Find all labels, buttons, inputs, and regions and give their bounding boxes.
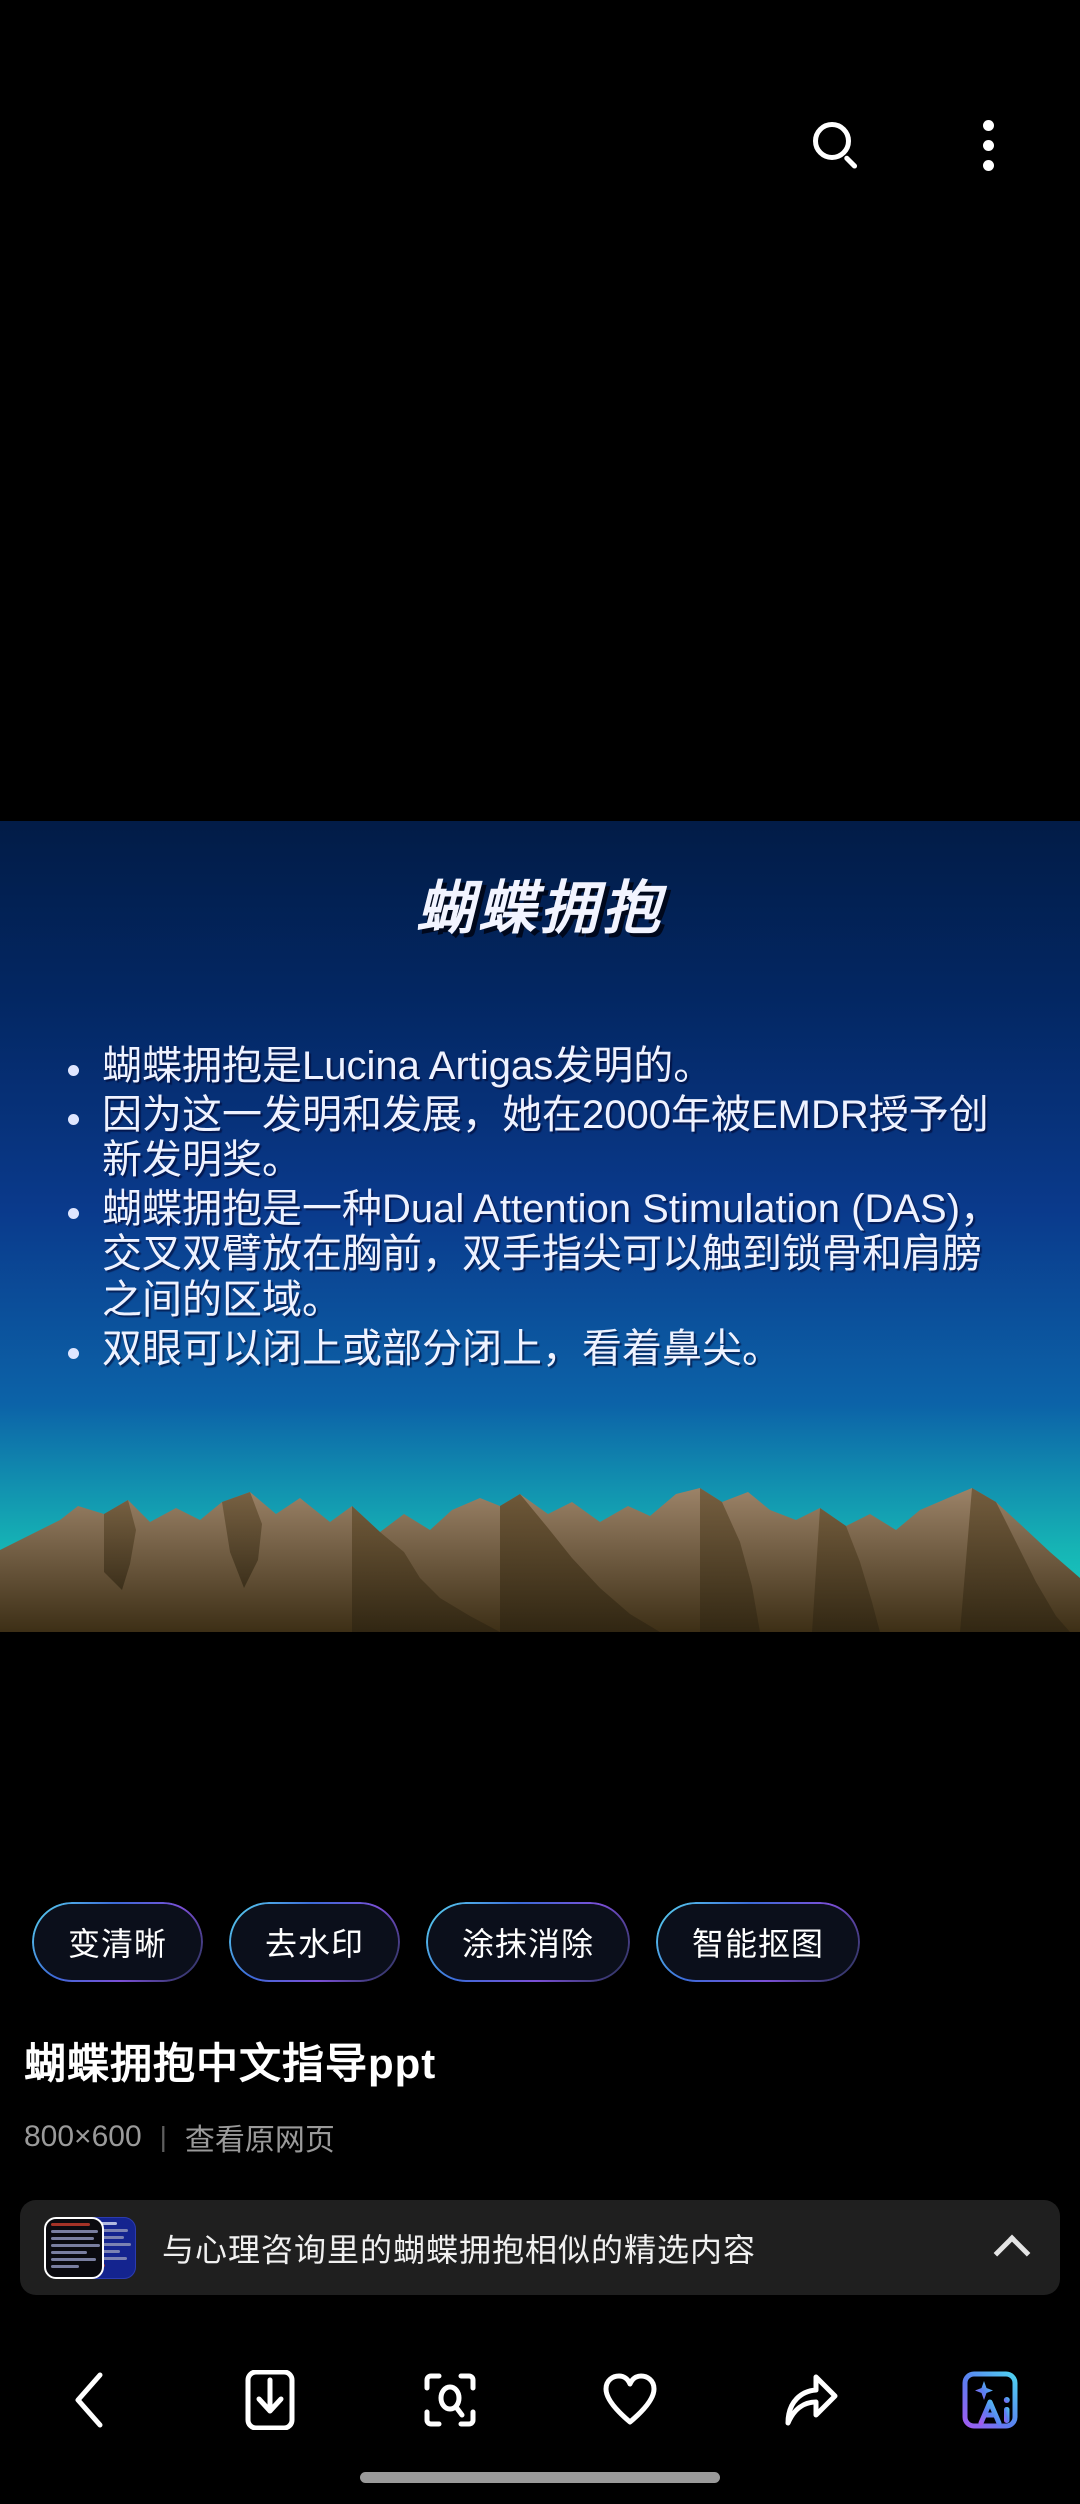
share-button[interactable]	[762, 2352, 858, 2448]
back-button[interactable]	[42, 2352, 138, 2448]
visual-search-button[interactable]	[402, 2352, 498, 2448]
thumbnail-front	[44, 2217, 104, 2279]
visual-search-icon	[421, 2370, 479, 2430]
meta-separator: |	[160, 2121, 167, 2153]
download-icon	[242, 2370, 298, 2430]
related-content-label: 与心理咨询里的蝴蝶拥抱相似的精选内容	[162, 2225, 756, 2271]
favorite-heart-icon	[601, 2372, 659, 2428]
chip-smart-cutout[interactable]: 智能抠图	[658, 1904, 858, 1980]
share-icon	[780, 2371, 840, 2429]
chip-remove-watermark[interactable]: 去水印	[231, 1904, 398, 1980]
chip-enhance-clarity[interactable]: 变清晰	[34, 1904, 201, 1980]
top-bar	[0, 0, 1080, 290]
bottom-toolbar	[0, 2340, 1080, 2460]
image-meta-row: 800×600 | 查看原网页	[24, 2115, 335, 2159]
mountain-illustration	[0, 1402, 1080, 1632]
image-viewer-screen: 蝴蝶拥抱 蝴蝶拥抱是Lucina Artigas发明的。 因为这一发明和发展，她…	[0, 0, 1080, 2504]
more-vertical-icon	[983, 120, 994, 171]
view-source-page-link[interactable]: 查看原网页	[185, 2115, 335, 2159]
search-button[interactable]	[796, 105, 876, 185]
related-thumbnail-stack	[44, 2217, 140, 2279]
home-indicator	[360, 2472, 720, 2483]
more-options-button[interactable]	[948, 105, 1028, 185]
list-item: 双眼可以闭上或部分闭上，看着鼻尖。	[60, 1327, 1020, 1373]
slide-title: 蝴蝶拥抱	[0, 861, 1080, 945]
list-item: 蝴蝶拥抱是Lucina Artigas发明的。	[60, 1044, 1020, 1090]
related-content-bar[interactable]: 与心理咨询里的蝴蝶拥抱相似的精选内容	[20, 2200, 1060, 2295]
download-button[interactable]	[222, 2352, 318, 2448]
chevron-up-icon[interactable]	[988, 2224, 1036, 2272]
favorite-button[interactable]	[582, 2352, 678, 2448]
ai-assistant-button[interactable]	[942, 2352, 1038, 2448]
chip-smudge-erase[interactable]: 涂抹消除	[428, 1904, 628, 1980]
image-title: 蝴蝶拥抱中文指导ppt	[24, 2030, 436, 2091]
ai-action-chip-row: 变清晰 去水印 涂抹消除 智能抠图	[34, 1904, 858, 1980]
ai-assistant-icon	[960, 2369, 1020, 2431]
slide-bullet-list: 蝴蝶拥抱是Lucina Artigas发明的。 因为这一发明和发展，她在2000…	[60, 1044, 1020, 1375]
list-item: 蝴蝶拥抱是一种Dual Attention Stimulation (DAS)，…	[60, 1187, 1020, 1324]
image-dimensions: 800×600	[24, 2120, 142, 2154]
list-item: 因为这一发明和发展，她在2000年被EMDR授予创新发明奖。	[60, 1093, 1020, 1184]
back-icon	[68, 2370, 112, 2430]
image-preview[interactable]: 蝴蝶拥抱 蝴蝶拥抱是Lucina Artigas发明的。 因为这一发明和发展，她…	[0, 821, 1080, 1632]
search-icon	[813, 122, 859, 168]
slide-canvas: 蝴蝶拥抱 蝴蝶拥抱是Lucina Artigas发明的。 因为这一发明和发展，她…	[0, 821, 1080, 1632]
